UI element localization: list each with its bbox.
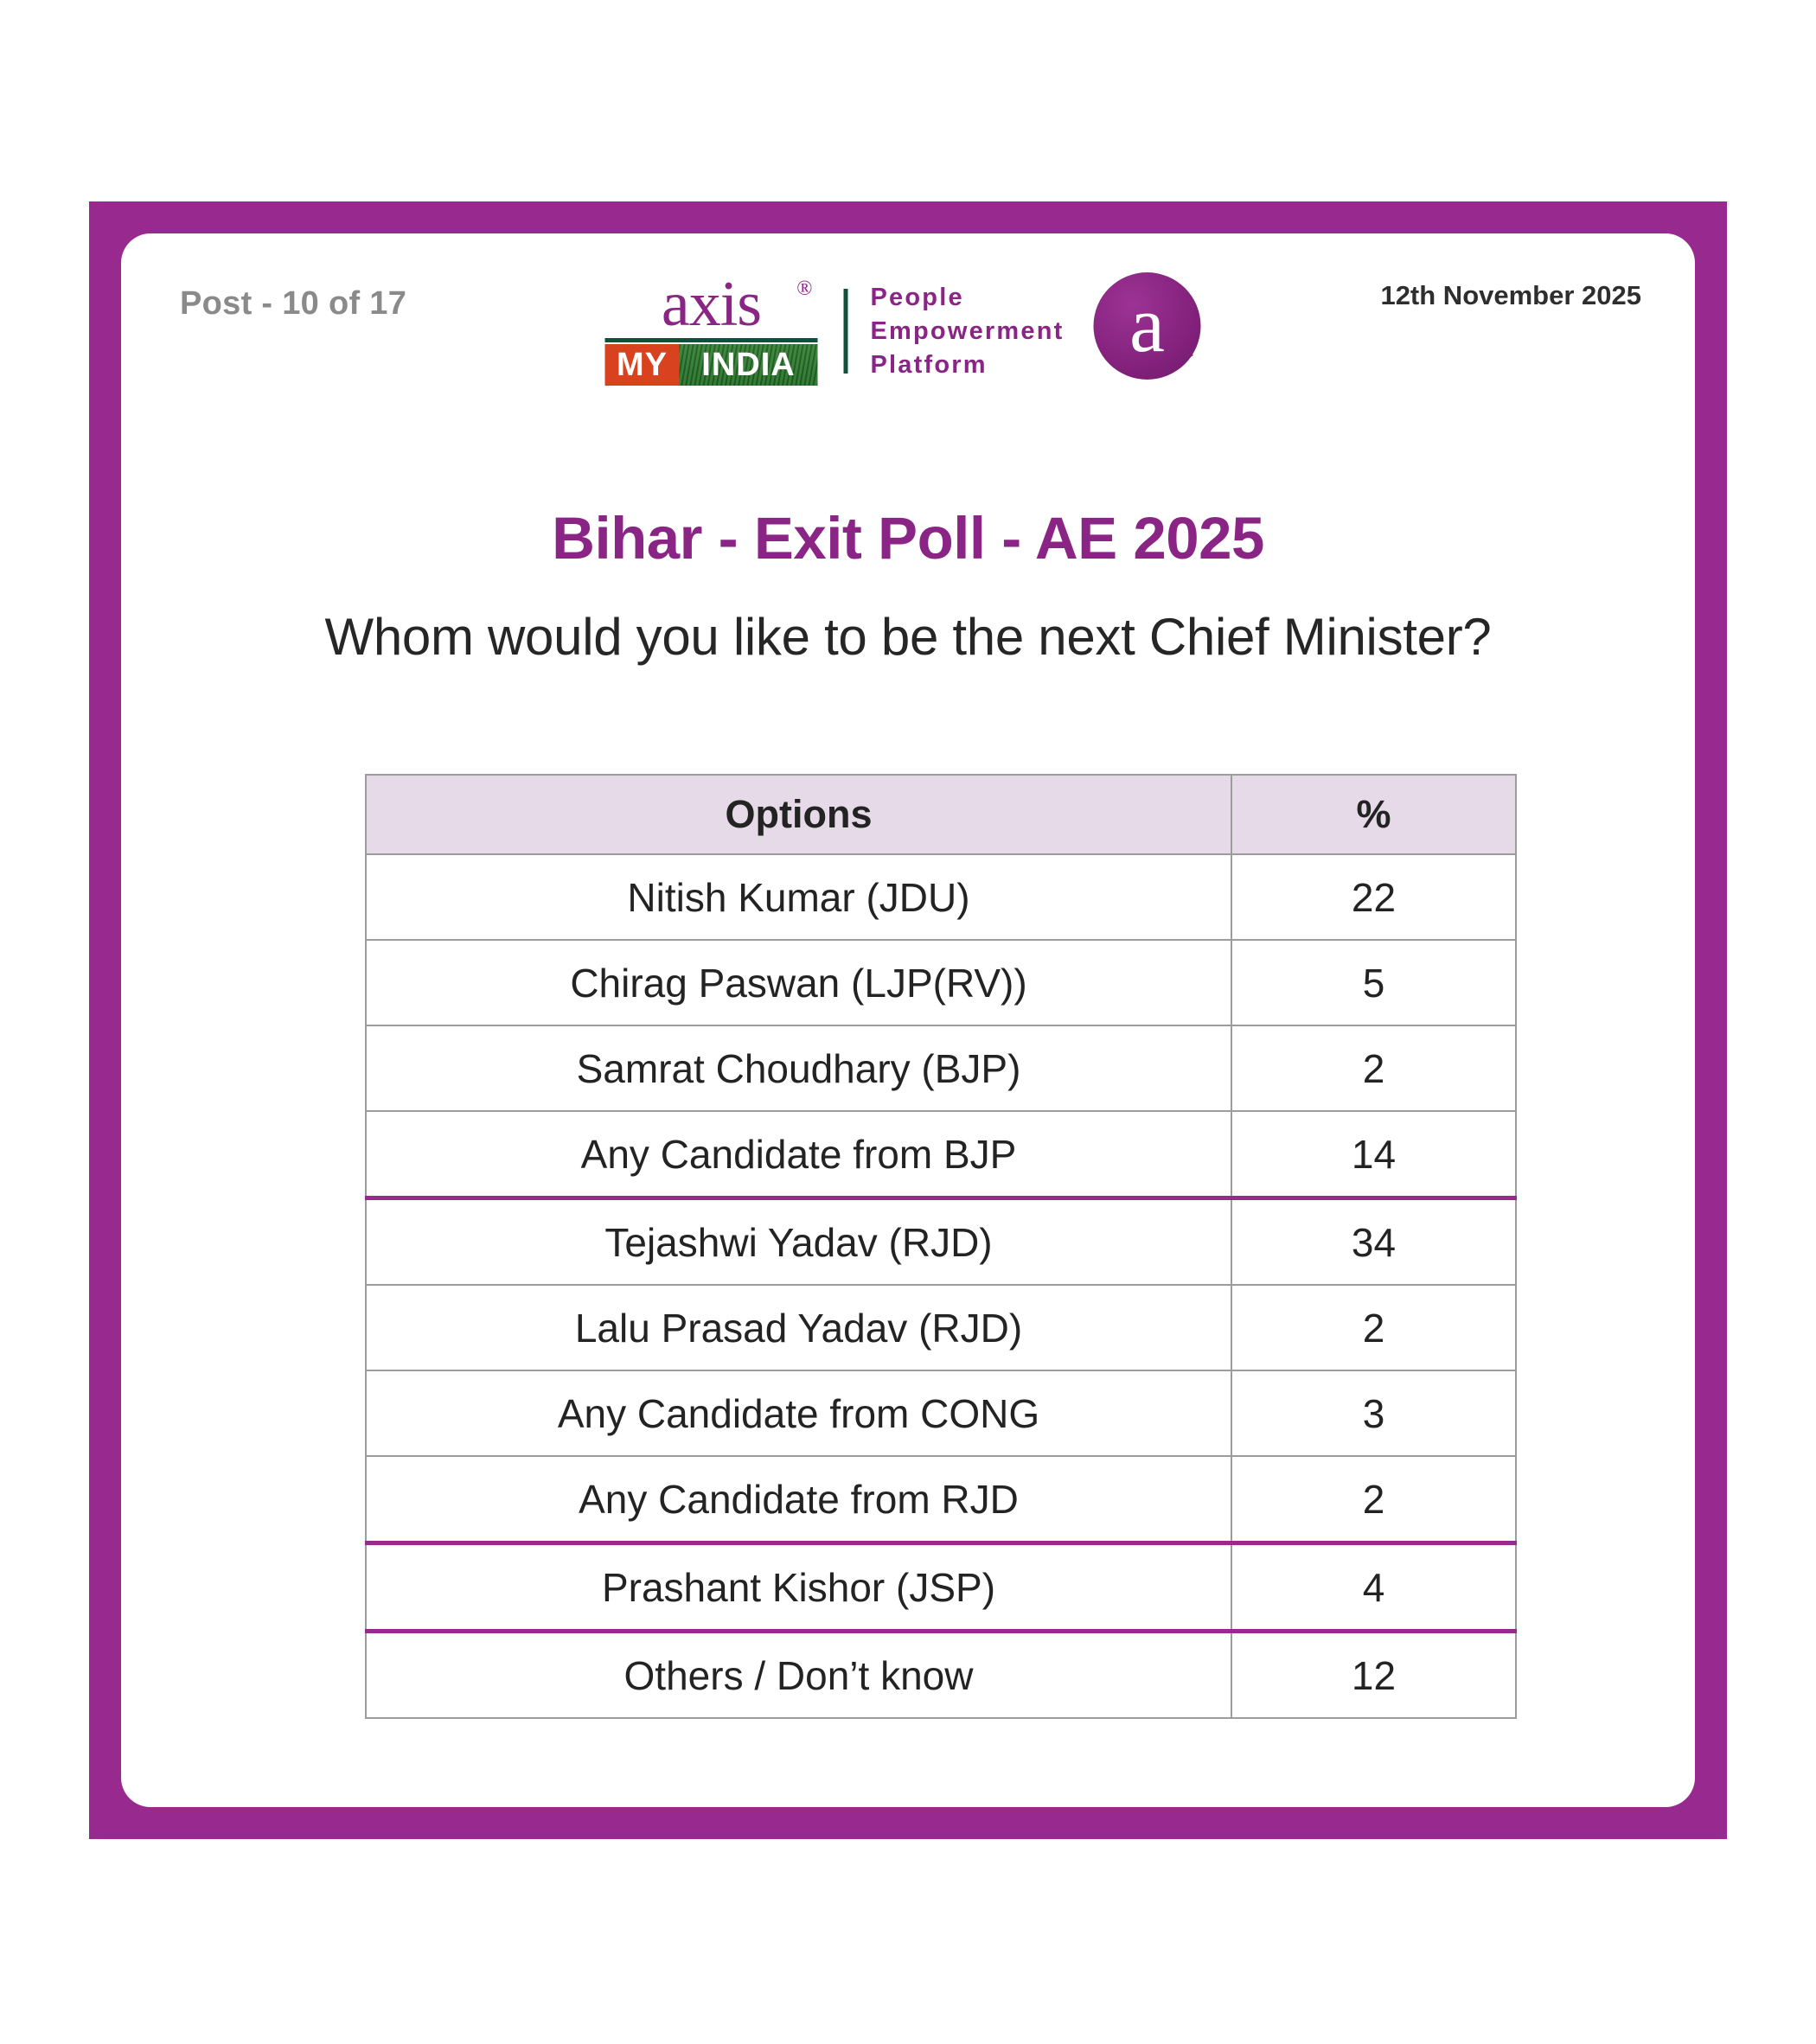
table-row: Any Candidate from BJP14 bbox=[366, 1111, 1516, 1198]
table-row: Samrat Choudhary (BJP)2 bbox=[366, 1025, 1516, 1111]
column-header-options: Options bbox=[366, 775, 1231, 854]
cell-percent: 2 bbox=[1231, 1285, 1516, 1370]
cell-percent: 14 bbox=[1231, 1111, 1516, 1198]
tagline-line-3: Platform bbox=[870, 352, 1064, 378]
poll-question: Whom would you like to be the next Chief… bbox=[121, 607, 1695, 667]
page-title: Bihar - Exit Poll - AE 2025 bbox=[121, 504, 1695, 572]
post-counter: Post - 10 of 17 bbox=[180, 285, 406, 323]
cell-option: Any Candidate from CONG bbox=[366, 1370, 1231, 1456]
poster-date: 12th November 2025 bbox=[1380, 280, 1641, 311]
logo-vertical-divider bbox=[843, 289, 847, 374]
table-header-row: Options % bbox=[366, 775, 1516, 854]
speech-bubble-letter: a bbox=[1094, 272, 1201, 380]
cell-option: Any Candidate from RJD bbox=[366, 1456, 1231, 1543]
cell-option: Lalu Prasad Yadav (RJD) bbox=[366, 1285, 1231, 1370]
poster-header: Post - 10 of 17 axis ® MY INDIA People E… bbox=[121, 233, 1695, 415]
table-row: Any Candidate from CONG3 bbox=[366, 1370, 1516, 1456]
cell-percent: 34 bbox=[1231, 1198, 1516, 1286]
table-body: Nitish Kumar (JDU)22Chirag Paswan (LJP(R… bbox=[366, 854, 1516, 1718]
tagline-line-2: Empowerment bbox=[870, 318, 1064, 344]
cell-percent: 3 bbox=[1231, 1370, 1516, 1456]
cell-percent: 5 bbox=[1231, 940, 1516, 1025]
cell-option: Others / Don’t know bbox=[366, 1632, 1231, 1719]
table-header: Options % bbox=[366, 775, 1516, 854]
cell-option: Chirag Paswan (LJP(RV)) bbox=[366, 940, 1231, 1025]
table-row: Others / Don’t know12 bbox=[366, 1632, 1516, 1719]
cell-option: Prashant Kishor (JSP) bbox=[366, 1543, 1231, 1632]
axis-my-india-logo: axis ® MY INDIA People Empowerment Platf… bbox=[604, 272, 1211, 390]
cell-option: Any Candidate from BJP bbox=[366, 1111, 1231, 1198]
tagline-line-1: People bbox=[870, 284, 1064, 310]
cell-percent: 12 bbox=[1231, 1632, 1516, 1719]
table-row: Lalu Prasad Yadav (RJD)2 bbox=[366, 1285, 1516, 1370]
logo-my-text: MY bbox=[604, 344, 679, 386]
cell-option: Nitish Kumar (JDU) bbox=[366, 854, 1231, 940]
my-india-strip: MY INDIA bbox=[604, 344, 817, 386]
poll-results-table: Options % Nitish Kumar (JDU)22Chirag Pas… bbox=[365, 774, 1517, 1719]
table-row: Nitish Kumar (JDU)22 bbox=[366, 854, 1516, 940]
axis-wordmark: axis ® MY INDIA bbox=[604, 276, 817, 386]
table-row: Tejashwi Yadav (RJD)34 bbox=[366, 1198, 1516, 1286]
column-header-percent: % bbox=[1231, 775, 1516, 854]
poster-card: Post - 10 of 17 axis ® MY INDIA People E… bbox=[121, 233, 1695, 1807]
cell-option: Tejashwi Yadav (RJD) bbox=[366, 1198, 1231, 1286]
cell-option: Samrat Choudhary (BJP) bbox=[366, 1025, 1231, 1111]
logo-tagline: People Empowerment Platform bbox=[870, 279, 1064, 383]
table-row: Prashant Kishor (JSP)4 bbox=[366, 1543, 1516, 1632]
logo-india-text: INDIA bbox=[679, 344, 817, 386]
cell-percent: 22 bbox=[1231, 854, 1516, 940]
registered-trademark-icon: ® bbox=[796, 278, 812, 301]
speech-bubble-icon: a bbox=[1094, 272, 1212, 390]
cell-percent: 2 bbox=[1231, 1456, 1516, 1543]
poll-table-container: Options % Nitish Kumar (JDU)22Chirag Pas… bbox=[365, 774, 1515, 1719]
cell-percent: 2 bbox=[1231, 1025, 1516, 1111]
poster-purple-frame: Post - 10 of 17 axis ® MY INDIA People E… bbox=[89, 201, 1727, 1839]
table-row: Any Candidate from RJD2 bbox=[366, 1456, 1516, 1543]
table-row: Chirag Paswan (LJP(RV))5 bbox=[366, 940, 1516, 1025]
logo-underline-rule bbox=[604, 338, 817, 342]
cell-percent: 4 bbox=[1231, 1543, 1516, 1632]
axis-word-text: axis bbox=[604, 272, 817, 336]
